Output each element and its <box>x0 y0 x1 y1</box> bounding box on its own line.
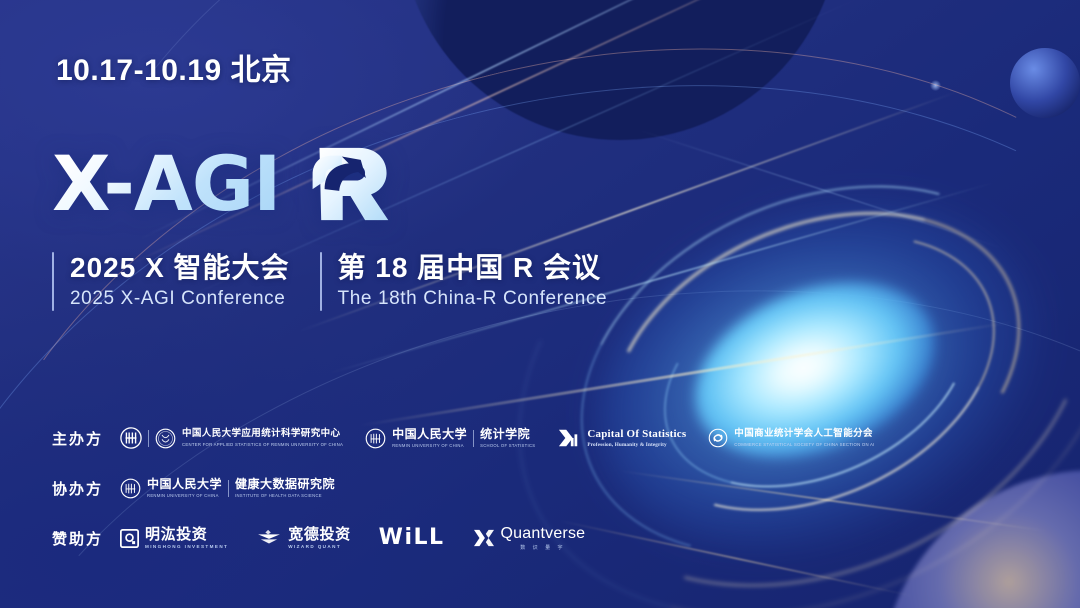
minghong-square-icon <box>120 529 139 548</box>
logo-name-main: Quantverse <box>501 526 586 542</box>
logo-separator <box>148 430 149 447</box>
subtitle-cn: 第 18 届中国 R 会议 <box>338 252 608 284</box>
conference-poster: 10.17-10.19 北京 X-AGI 2 <box>0 0 1080 608</box>
logo-wizard-quant: 宽德投资 Wizard Quant <box>256 527 350 550</box>
logo-name-cn: 中国人民大学应用统计科学研究中心 <box>182 429 343 440</box>
logo-ruc-institute-health-data-science: 中国人民大学 Renmin University of China 健康大数据研… <box>120 478 335 499</box>
logo-name-cn-2: 健康大数据研究院 <box>235 478 335 491</box>
subtitle-block-chinar: 第 18 届中国 R 会议 The 18th China-R Conferenc… <box>320 252 608 311</box>
subtitle-gap <box>290 252 320 311</box>
event-logo: X-AGI <box>52 146 390 222</box>
subtitle-en: 2025 X-AGI Conference <box>70 288 290 311</box>
conference-subtitles: 2025 X 智能大会 2025 X-AGI Conference 第 18 届… <box>52 252 607 311</box>
logo-will: WiLL <box>379 527 445 549</box>
subtitle-en: The 18th China-R Conference <box>338 288 608 311</box>
logo-name-cn: 中国人民大学 <box>147 478 222 491</box>
logo-name-en-2: Institute of Health Data Science <box>235 493 335 498</box>
stylized-r-with-arrow-icon <box>304 146 390 222</box>
logo-name-en: Renmin University of China <box>392 443 467 448</box>
logo-name-cn: 中国商业统计学会人工智能分会 <box>734 429 874 440</box>
quantverse-x-icon <box>473 528 495 548</box>
logo-name-en: Wizard Quant <box>288 544 350 549</box>
partners-section: 主办方 <box>52 418 752 568</box>
xagi-wordmark: X-AGI <box>52 146 280 222</box>
logo-name-en-2: School of Statistics <box>480 443 535 448</box>
logo-name-cn-2: 统计学院 <box>480 428 535 441</box>
partner-row-label: 主办方 <box>52 428 120 449</box>
cssc-swirl-icon <box>708 428 728 448</box>
ruc-seal-icon <box>155 428 176 449</box>
partner-row-label: 赞助方 <box>52 528 120 549</box>
cos-emblem-icon <box>557 427 581 449</box>
subtitle-divider <box>52 252 54 311</box>
subtitle-divider <box>320 252 322 311</box>
logo-name-sub: Profession, Humanity & Integrity <box>587 442 686 448</box>
logo-quantverse: Quantverse 数 识 量 宇 <box>473 526 586 551</box>
partner-row-organizers: 主办方 <box>52 418 752 458</box>
casrmu-emblem-icon <box>120 427 142 449</box>
ruc-seal-icon <box>120 478 141 499</box>
logo-casrmu: 中国人民大学应用统计科学研究中心 Center for Applied Stat… <box>120 427 343 449</box>
subtitle-cn: 2025 X 智能大会 <box>70 252 290 284</box>
logo-separator <box>473 430 474 447</box>
logo-name-en: Minghong Investment <box>145 544 228 549</box>
logo-name-cn: 明汯投资 <box>145 527 228 543</box>
logo-name-en: Renmin University of China <box>147 493 222 498</box>
partner-row-coorganizers: 协办方 中国人民大学 Renmin University of <box>52 468 752 508</box>
logo-cssc-ai-section: 中国商业统计学会人工智能分会 Commerce Statistical Soci… <box>708 428 874 448</box>
logo-name-sub: 数 识 量 宇 <box>501 544 586 551</box>
partner-row-label: 协办方 <box>52 478 120 499</box>
wizard-quant-gem-icon <box>256 528 282 548</box>
logo-name-cn: 宽德投资 <box>288 527 350 543</box>
logo-name-en: Commerce Statistical Society of China Se… <box>734 442 874 447</box>
poster-content: 10.17-10.19 北京 X-AGI 2 <box>0 0 1080 608</box>
logo-separator <box>228 480 229 497</box>
partner-row-sponsors: 赞助方 明汯投资 Minghong Investment <box>52 518 752 558</box>
logo-name-will: WiLL <box>379 527 445 549</box>
logo-name-cn: 中国人民大学 <box>392 428 467 441</box>
logo-minghong-investment: 明汯投资 Minghong Investment <box>120 527 228 550</box>
logo-name-en: Center for Applied Statistics of Renmin … <box>182 442 343 447</box>
event-date-location: 10.17-10.19 北京 <box>56 45 291 89</box>
logo-ruc-school-of-statistics: 中国人民大学 Renmin University of China 统计学院 S… <box>365 428 535 449</box>
logo-capital-of-statistics: Capital Of Statistics Profession, Humani… <box>557 427 686 449</box>
subtitle-block-xagi: 2025 X 智能大会 2025 X-AGI Conference <box>52 252 290 311</box>
logo-name-main: Capital Of Statistics <box>587 428 686 440</box>
ruc-seal-icon <box>365 428 386 449</box>
